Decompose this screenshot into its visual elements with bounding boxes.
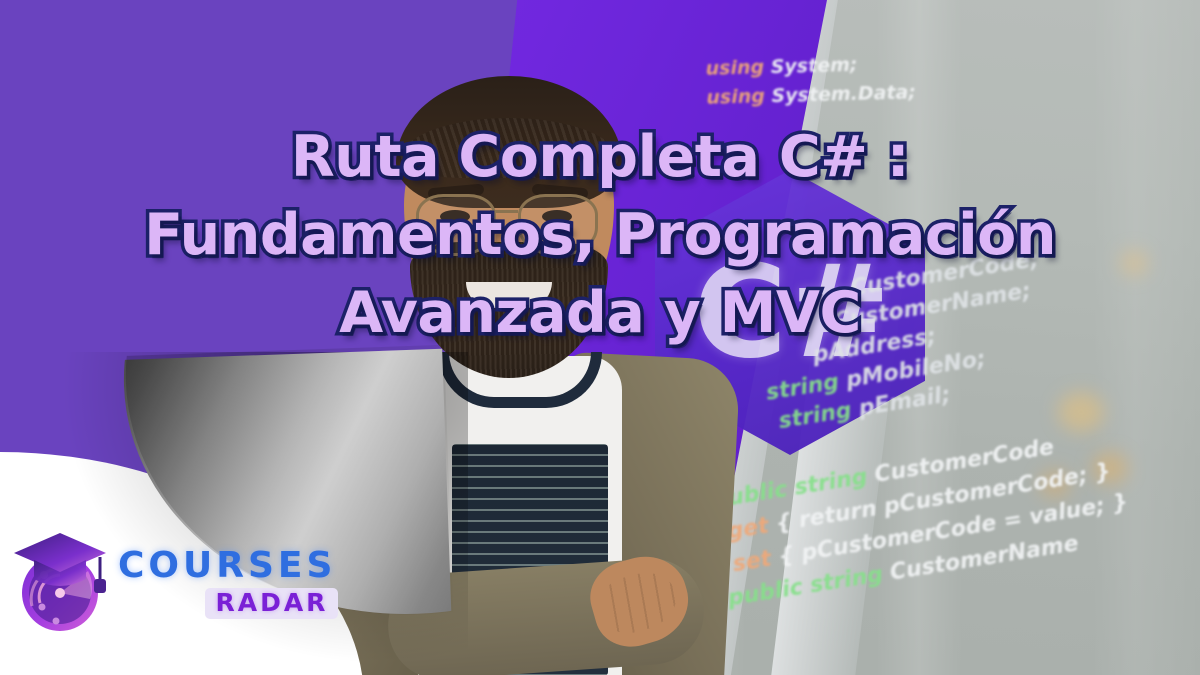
page-title: Ruta Completa C# : Fundamentos, Programa…	[0, 118, 1200, 352]
brand-name-primary: COURSES	[118, 546, 336, 586]
code-snippet-usings: using System; using System.Data;	[705, 49, 916, 112]
code-keyword: get	[726, 513, 771, 544]
brand-wordmark: COURSES RADAR	[118, 546, 336, 619]
title-line-2: Fundamentos, Programación	[14, 196, 1186, 274]
code-keyword: set	[731, 546, 773, 577]
brand-name-secondary: RADAR	[215, 589, 328, 617]
brand-name-secondary-badge: RADAR	[205, 588, 338, 619]
title-line-3: Avanzada y MVC	[14, 274, 1186, 352]
code-text: System.Data;	[771, 81, 916, 107]
brand-logo[interactable]: COURSES RADAR	[14, 524, 284, 640]
code-text: System;	[770, 54, 857, 78]
title-line-1: Ruta Completa C# :	[14, 118, 1186, 196]
course-banner: C# using System; using System.Data; Cust…	[0, 0, 1200, 675]
graduation-cap-radar-icon	[14, 527, 110, 637]
code-line: using System.Data;	[706, 78, 916, 112]
